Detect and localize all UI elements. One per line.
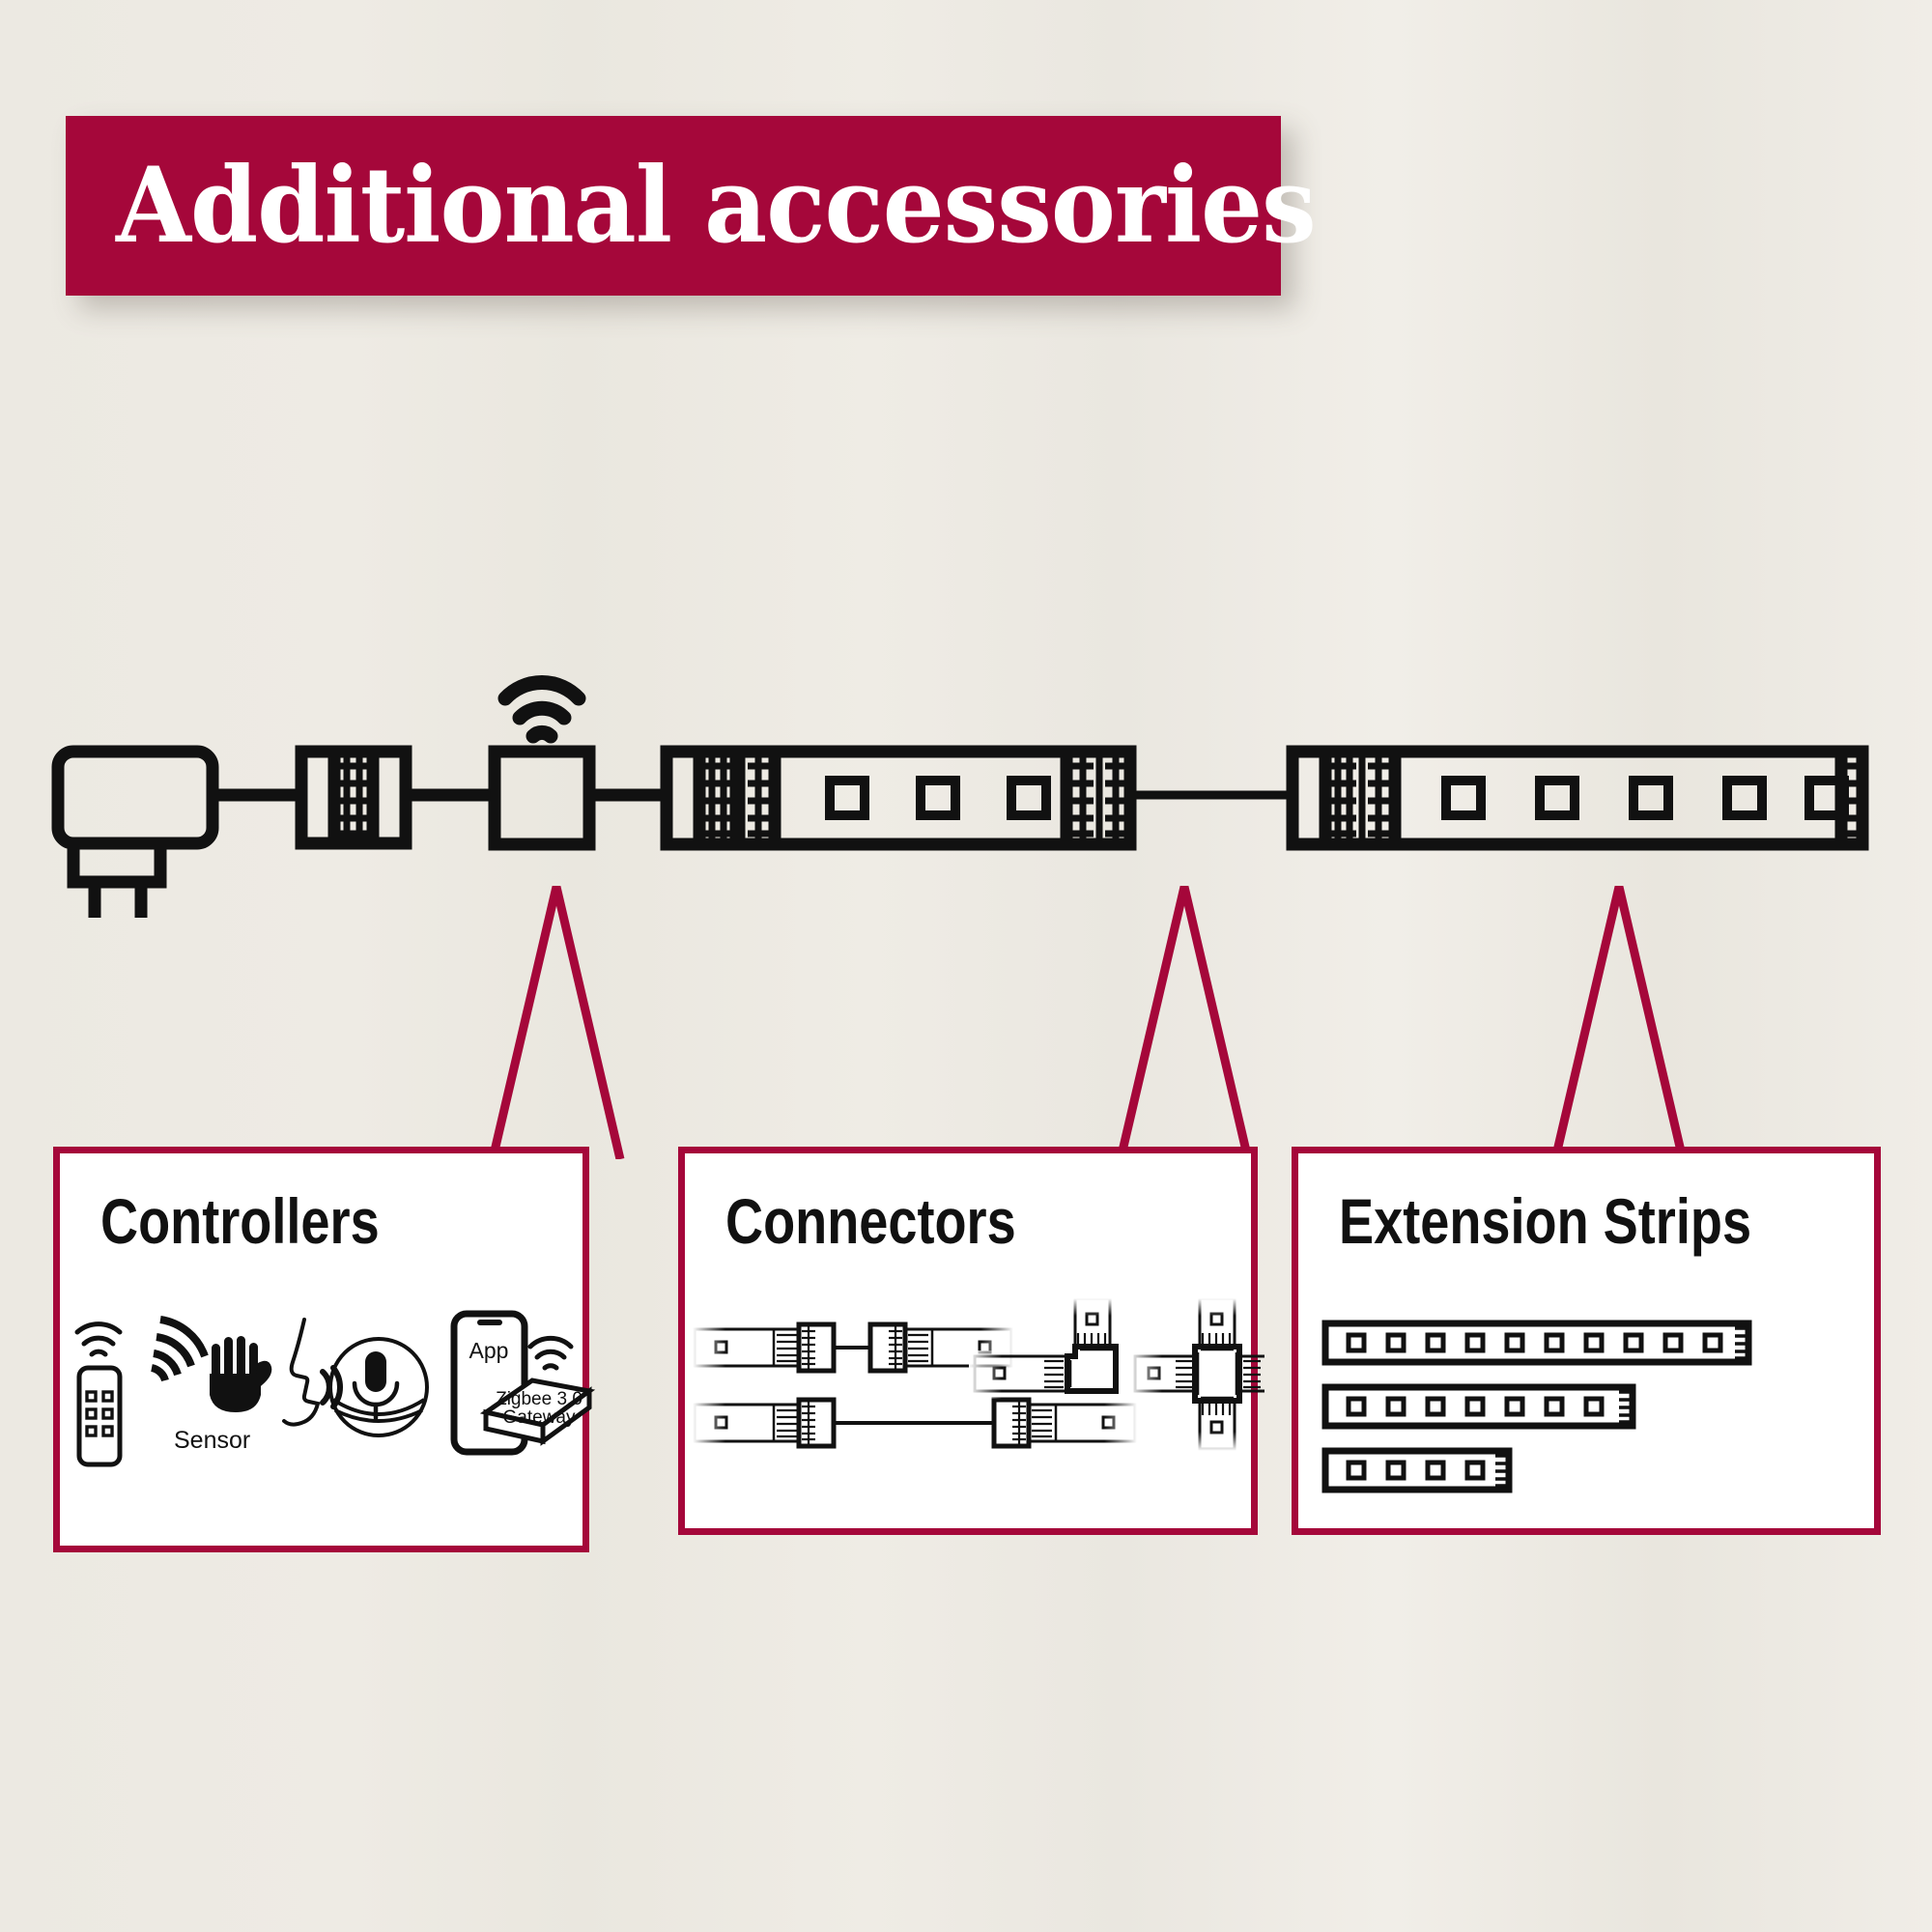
- infographic-canvas: Additional accessories: [0, 0, 1932, 1932]
- callout-controllers[interactable]: Controllers: [53, 1147, 589, 1552]
- page-title: Additional accessories: [116, 145, 1316, 267]
- title-banner: Additional accessories: [66, 116, 1281, 296]
- gateway-wifi-icon: [530, 1338, 571, 1368]
- controllers-icon-row: Sensor: [60, 1298, 596, 1549]
- extension-strip-long-icon: [1325, 1323, 1748, 1362]
- sensor-label: Sensor: [174, 1427, 250, 1454]
- callout-body-connectors: [685, 1298, 1251, 1528]
- extension-strip-short-icon: [1325, 1451, 1509, 1490]
- zigbee-label-line2: Gateway: [503, 1407, 576, 1428]
- hand-glyph: [210, 1336, 271, 1412]
- microphone-glyph: [365, 1351, 386, 1392]
- pointer-spike-extension: [1526, 869, 1719, 1159]
- callout-extension-strips[interactable]: Extension Strips: [1292, 1147, 1881, 1535]
- callout-body-controllers: Sensor: [60, 1298, 582, 1546]
- callout-title-extension: Extension Strips: [1339, 1184, 1751, 1258]
- callout-connectors[interactable]: Connectors: [678, 1147, 1258, 1535]
- remote-control-icon: [77, 1324, 120, 1464]
- motion-sensor-hand-icon: Sensor: [152, 1320, 271, 1454]
- led-strip-icon-1: [667, 752, 1130, 844]
- extension-strip-medium-icon: [1325, 1387, 1633, 1426]
- extension-strips-icon-group: [1298, 1298, 1888, 1530]
- callout-title-controllers: Controllers: [100, 1184, 380, 1258]
- led-strip-icon-2: [1293, 752, 1862, 844]
- wifi-icon: [505, 682, 579, 736]
- long-cable-connector-icon: [693, 1397, 1137, 1451]
- voice-control-speaker-icon: [284, 1320, 427, 1435]
- connectors-icon-row: [685, 1298, 1264, 1530]
- wireless-controller-icon: [495, 752, 589, 844]
- zigbee-label-line1: Zigbee 3.0: [496, 1389, 582, 1409]
- callout-title-connectors: Connectors: [725, 1184, 1016, 1258]
- short-cable-connector-icon: [693, 1321, 1013, 1376]
- pointer-spike-controllers: [464, 869, 657, 1159]
- power-supply-icon: [58, 752, 213, 918]
- app-label: App: [469, 1338, 509, 1363]
- strip-connector-icon-1: [301, 752, 406, 843]
- callout-body-extension: [1298, 1298, 1874, 1528]
- pointer-spike-connectors: [1092, 869, 1285, 1159]
- cross-x-connector-icon: [1129, 1298, 1264, 1451]
